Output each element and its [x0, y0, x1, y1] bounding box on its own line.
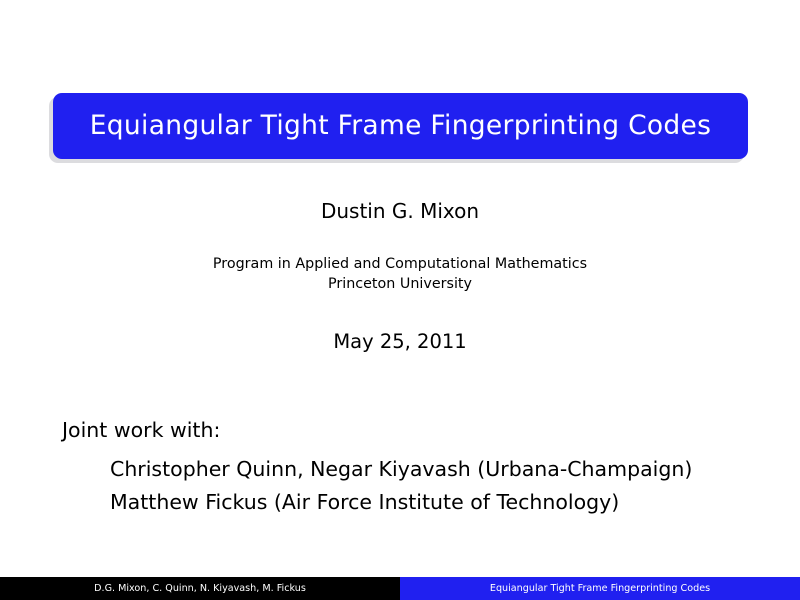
footer-title-text: Equiangular Tight Frame Fingerprinting C…	[490, 584, 710, 594]
collaborator-line: Matthew Fickus (Air Force Institute of T…	[110, 492, 752, 513]
page-title: Equiangular Tight Frame Fingerprinting C…	[90, 113, 711, 140]
footer-title-section: Equiangular Tight Frame Fingerprinting C…	[400, 577, 800, 600]
institute-block: Program in Applied and Computational Mat…	[0, 254, 800, 295]
slide-footer: D.G. Mixon, C. Quinn, N. Kiyavash, M. Fi…	[0, 577, 800, 600]
presentation-title-slide: Equiangular Tight Frame Fingerprinting C…	[0, 0, 800, 600]
title-banner: Equiangular Tight Frame Fingerprinting C…	[53, 93, 748, 159]
joint-work-block: Joint work with: Christopher Quinn, Nega…	[62, 420, 752, 526]
presentation-date: May 25, 2011	[0, 330, 800, 353]
author-name: Dustin G. Mixon	[0, 199, 800, 223]
institute-line-1: Program in Applied and Computational Mat…	[0, 254, 800, 274]
institute-line-2: Princeton University	[0, 274, 800, 294]
collaborator-line: Christopher Quinn, Negar Kiyavash (Urban…	[110, 459, 752, 480]
footer-authors-text: D.G. Mixon, C. Quinn, N. Kiyavash, M. Fi…	[94, 584, 306, 594]
joint-work-heading: Joint work with:	[62, 420, 752, 441]
footer-authors-section: D.G. Mixon, C. Quinn, N. Kiyavash, M. Fi…	[0, 577, 400, 600]
